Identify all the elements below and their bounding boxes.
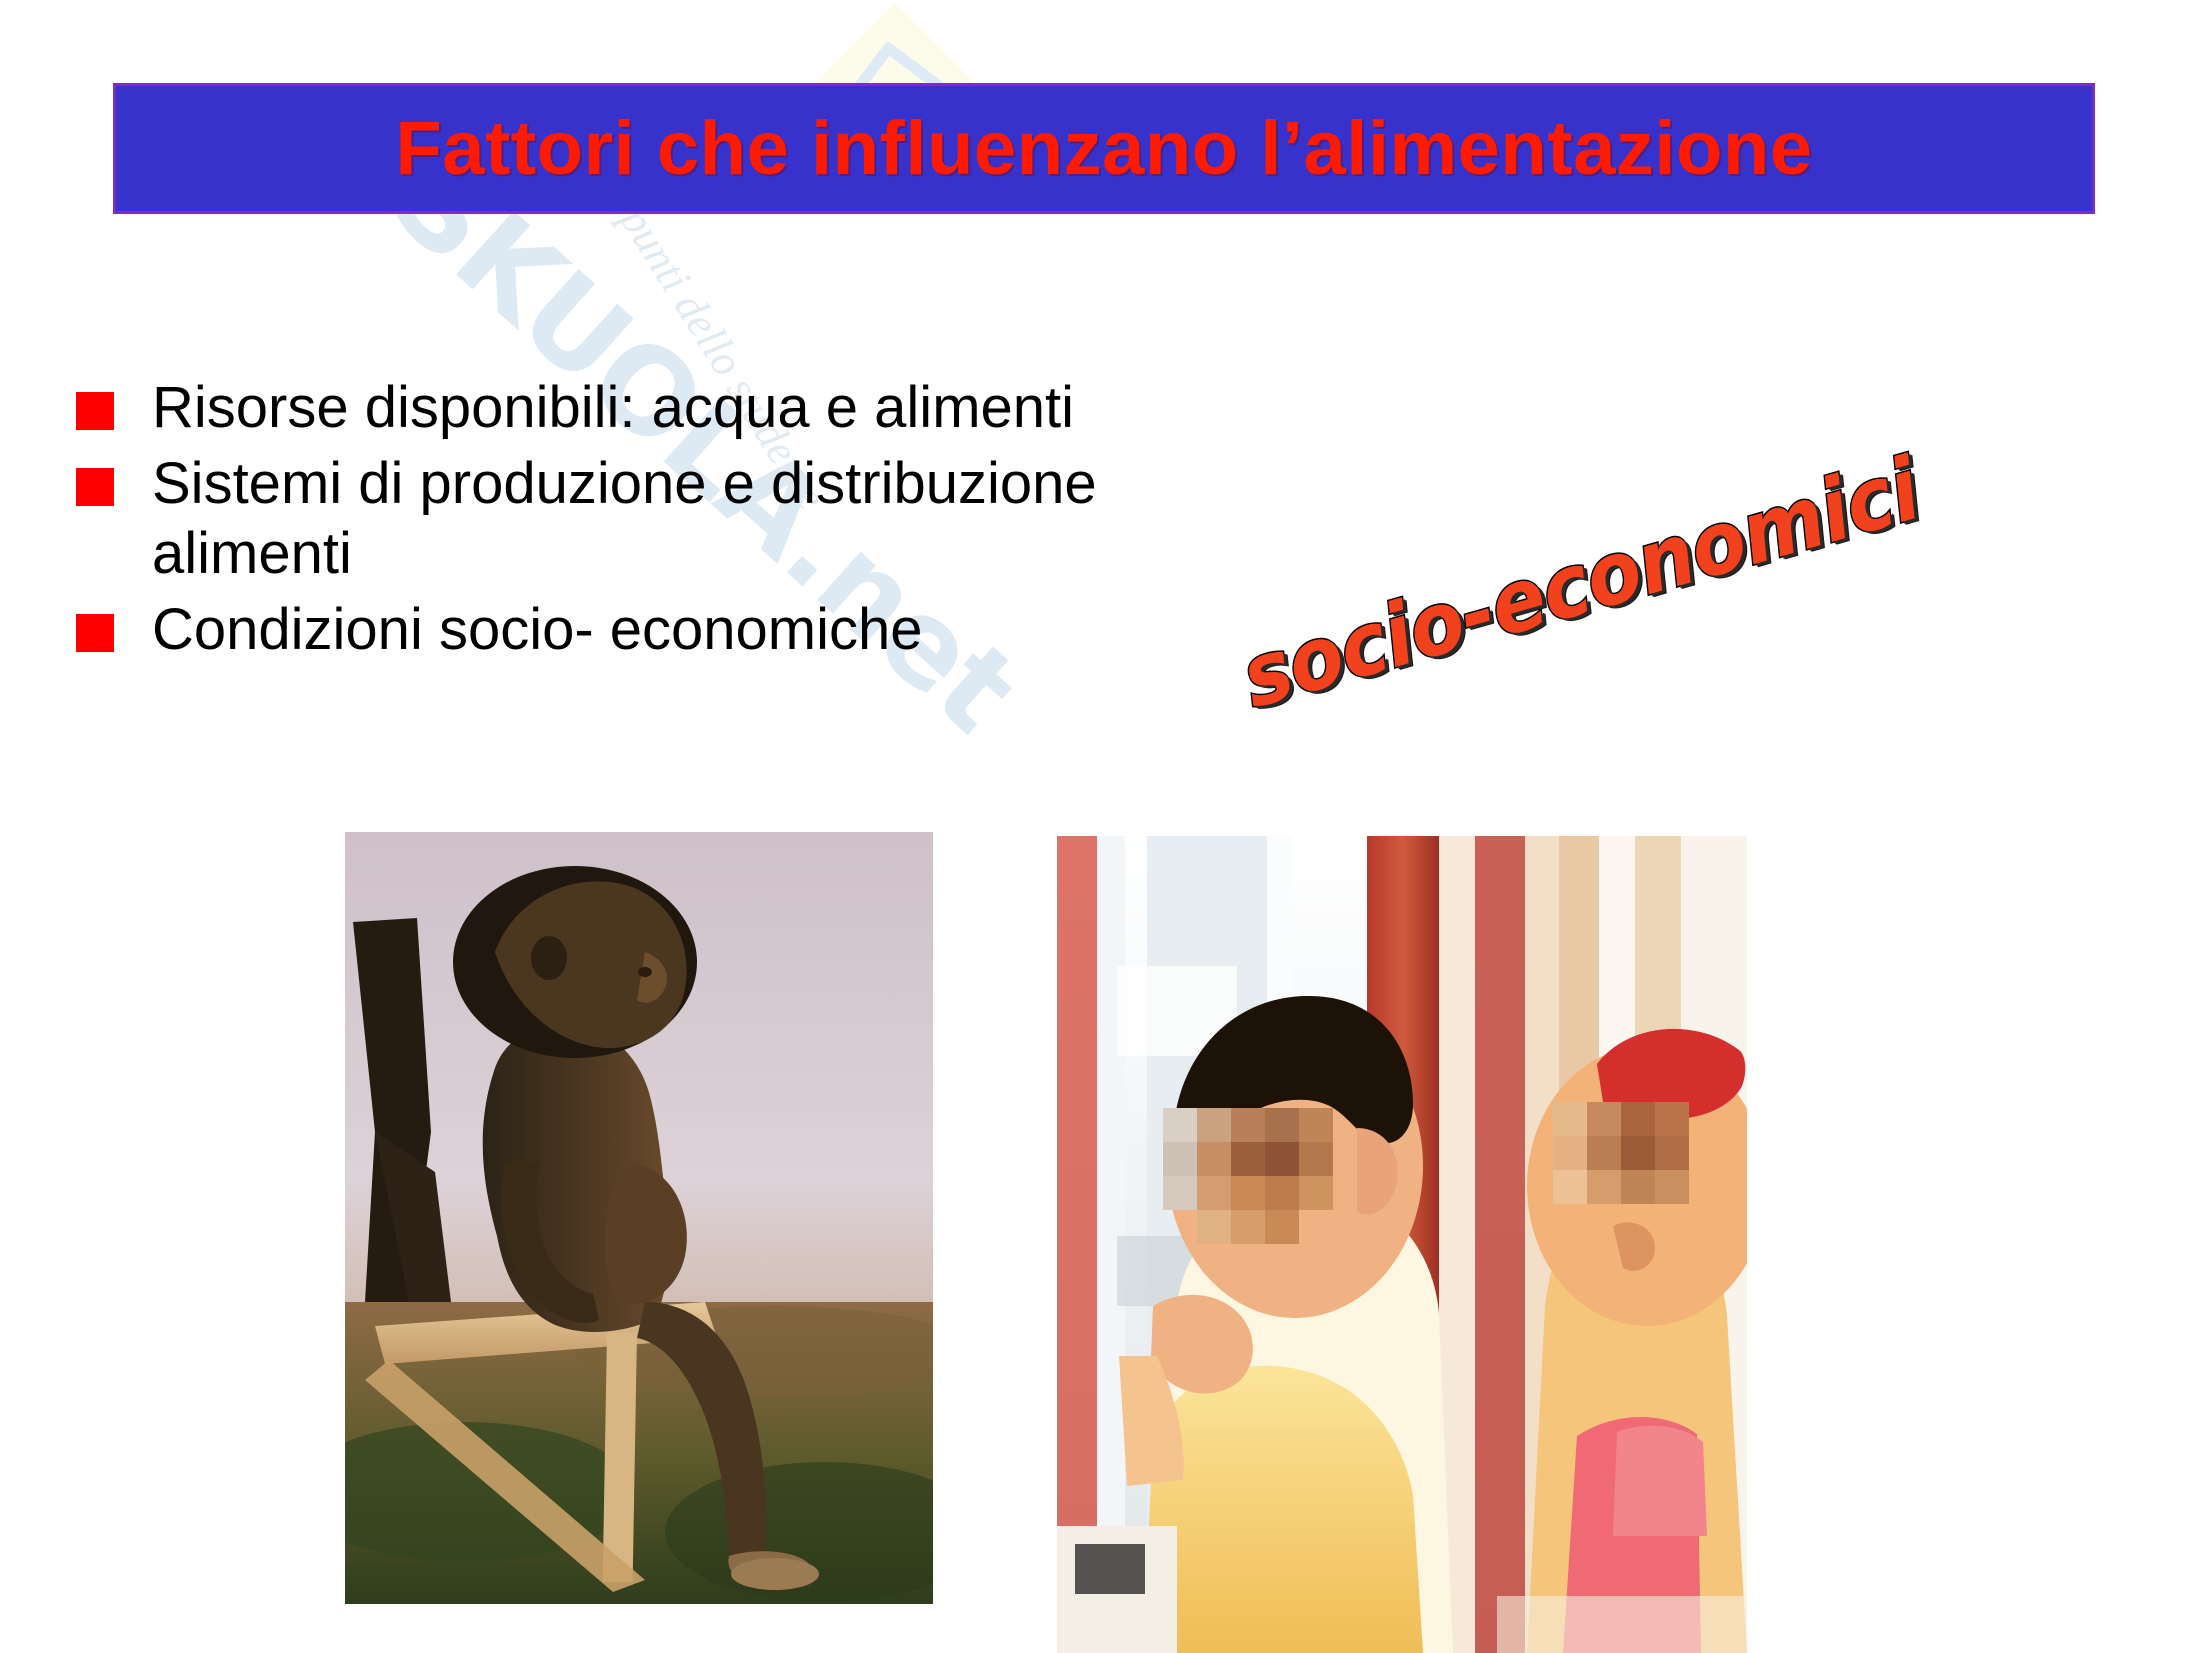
overweight-children-illustration	[1057, 836, 1747, 1653]
title-banner: Fattori che influenzano l’alimentazione	[113, 83, 2095, 214]
malnourished-child-illustration	[345, 832, 933, 1604]
pixelation-right-face	[1553, 1102, 1689, 1204]
list-item: Condizioni socio- economiche	[76, 600, 1376, 662]
list-item-label: Sistemi di produzione e distribuzione	[152, 454, 1097, 515]
square-bullet-icon	[76, 614, 114, 652]
bullet-list: Risorse disponibili: acqua e alimenti Si…	[76, 378, 1376, 676]
list-item-label: Risorse disponibili: acqua e alimenti	[152, 378, 1074, 439]
square-bullet-icon	[76, 392, 114, 430]
list-item: Sistemi di produzione e distribuzione	[76, 454, 1376, 516]
overweight-children-photo	[1057, 836, 1747, 1653]
bullet-spacer	[76, 538, 114, 576]
list-item-label: Condizioni socio- economiche	[152, 600, 923, 661]
slide-canvas: SKUOLA.net appunti dello studente Fattor…	[0, 0, 2206, 1653]
page-title: Fattori che influenzano l’alimentazione	[395, 111, 1812, 187]
list-item-label: alimenti	[152, 524, 352, 585]
malnourished-child-photo	[345, 832, 933, 1604]
list-item: Risorse disponibili: acqua e alimenti	[76, 378, 1376, 440]
list-item-continuation: alimenti	[76, 524, 1376, 586]
square-bullet-icon	[76, 468, 114, 506]
